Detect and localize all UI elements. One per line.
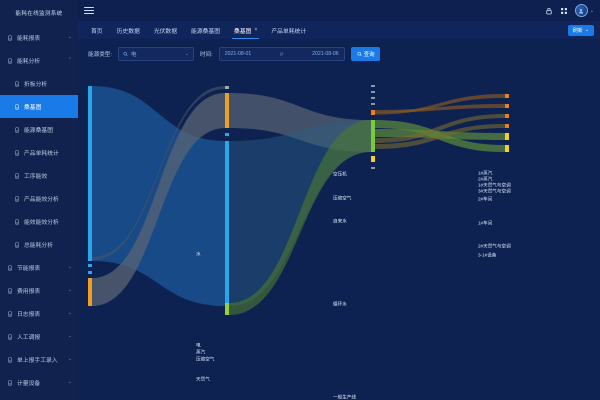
sankey-node-dev12[interactable] xyxy=(505,133,509,140)
sidebar-item-label: 工序能效 xyxy=(24,171,72,180)
sidebar: 能耗在线监测系统 能耗报表⌄能耗分析⌃折板分析桑基图能源桑基图产品单耗统计工序能… xyxy=(0,0,78,400)
sankey-node-gasair3[interactable] xyxy=(371,103,375,105)
chevron-icon: ⌄ xyxy=(68,35,72,40)
refresh-label: 刷新 xyxy=(573,27,583,34)
chevron-icon: ⌄ xyxy=(68,265,72,270)
filter-bar: 能源类型: 电 ⌄ 时间: 2021-08-01 2021-08-06 xyxy=(78,39,600,69)
sankey-node-gasair1[interactable] xyxy=(371,97,375,99)
sidebar-item-3[interactable]: 桑基图 xyxy=(0,95,78,118)
sidebar-nav: 能耗报表⌄能耗分析⌃折板分析桑基图能源桑基图产品单耗统计工序能效产品能效分析能效… xyxy=(0,26,78,394)
sidebar-item-label: 费用报表 xyxy=(17,286,64,295)
app-brand: 能耗在线监测系统 xyxy=(0,0,78,26)
chevron-down-icon: ⌄ xyxy=(185,51,189,57)
main-area: ⌄ 首页历史数据光伏数据能源桑基图桑基图×产品单耗统计 刷新 ⌄ 能源类型: 电… xyxy=(78,0,600,400)
chevron-icon: ⌄ xyxy=(68,288,72,293)
sankey-node-compair_mid[interactable] xyxy=(225,93,229,128)
tab-4[interactable]: 桑基图× xyxy=(227,21,264,39)
tab-label: 产品单耗统计 xyxy=(271,26,306,35)
tab-label: 能源桑基图 xyxy=(191,26,220,35)
sankey-node-dev11[interactable] xyxy=(505,145,509,152)
energy-type-value: 电 xyxy=(131,50,182,58)
tab-1[interactable]: 历史数据 xyxy=(110,21,147,39)
avatar-caret[interactable]: ⌄ xyxy=(590,8,594,14)
date-range-picker[interactable]: 2021-08-01 2021-08-06 xyxy=(219,47,345,61)
sankey-node-gasair2[interactable] xyxy=(371,156,375,162)
tab-close-icon[interactable]: × xyxy=(254,27,257,33)
sankey-node-compair_in[interactable] xyxy=(88,271,92,274)
energy-sankey-icon xyxy=(14,127,20,133)
sidebar-item-label: 能源桑基图 xyxy=(24,125,72,134)
energy-type-label: 能源类型: xyxy=(88,50,112,58)
gauge-icon xyxy=(14,219,20,225)
tab-label: 桑基图 xyxy=(234,26,251,35)
tab-label: 首页 xyxy=(91,26,103,35)
hamburger-icon[interactable] xyxy=(84,7,94,14)
date-end: 2021-08-06 xyxy=(312,51,339,57)
tab-5[interactable]: 产品单耗统计 xyxy=(264,21,313,39)
sidebar-item-7[interactable]: 产品能效分析 xyxy=(0,187,78,210)
sankey-node-dev13[interactable] xyxy=(505,114,509,118)
sankey-node-dev14[interactable] xyxy=(505,124,509,128)
sidebar-item-14[interactable]: 单上报手工录入⌄ xyxy=(0,348,78,371)
sidebar-item-label: 单上报手工录入 xyxy=(17,355,64,364)
query-button[interactable]: 查询 xyxy=(351,47,381,61)
tab-3[interactable]: 能源桑基图 xyxy=(184,21,227,39)
sankey-node-aircomp[interactable] xyxy=(225,86,229,89)
sidebar-item-label: 能耗分析 xyxy=(17,56,64,65)
analysis-icon xyxy=(7,58,13,64)
sankey-node-elec[interactable] xyxy=(88,257,92,260)
cost-icon xyxy=(7,288,13,294)
tab-label: 光伏数据 xyxy=(154,26,177,35)
sankey-node-circwater[interactable] xyxy=(225,141,229,306)
savings-icon xyxy=(7,265,13,271)
sidebar-item-1[interactable]: 能耗分析⌃ xyxy=(0,49,78,72)
avatar-icon xyxy=(575,4,588,17)
chevron-down-icon: ⌄ xyxy=(585,27,589,33)
chevron-icon: ⌄ xyxy=(68,357,72,362)
report-icon xyxy=(7,35,13,41)
product-icon xyxy=(14,150,20,156)
sankey-node-label-prodline: 一般生产线 xyxy=(333,396,356,400)
sankey-node-natgas[interactable] xyxy=(88,278,92,306)
grid-icon[interactable] xyxy=(560,7,568,15)
info-icon xyxy=(14,196,20,202)
chevron-icon: ⌄ xyxy=(68,311,72,316)
sidebar-item-label: 节能报表 xyxy=(17,263,64,272)
sidebar-item-label: 折板分析 xyxy=(24,79,72,88)
sankey-node-water[interactable] xyxy=(88,86,92,261)
search-icon xyxy=(357,52,362,57)
sidebar-item-label: 产品能效分析 xyxy=(24,194,72,203)
sidebar-item-8[interactable]: 能效能效分析 xyxy=(0,210,78,233)
sankey-node-dev21[interactable] xyxy=(505,104,509,108)
refresh-button[interactable]: 刷新 ⌄ xyxy=(568,25,594,36)
tab-label: 历史数据 xyxy=(117,26,140,35)
time-label: 时间: xyxy=(200,50,213,58)
sidebar-item-15[interactable]: 计量设备⌄ xyxy=(0,371,78,394)
device-icon xyxy=(7,380,13,386)
sidebar-item-label: 能效能效分析 xyxy=(24,217,72,226)
top-bar-actions: ⌄ xyxy=(545,4,594,17)
sidebar-item-2[interactable]: 折板分析 xyxy=(0,72,78,95)
manual-icon xyxy=(7,334,13,340)
chevron-icon: ⌄ xyxy=(68,334,72,339)
top-bar: ⌄ xyxy=(78,0,600,21)
sidebar-item-label: 计量设备 xyxy=(17,378,64,387)
sankey-node-prodline[interactable] xyxy=(225,303,229,315)
sidebar-item-label: 桑基图 xyxy=(24,102,72,111)
date-start: 2021-08-01 xyxy=(225,51,252,57)
sidebar-item-4[interactable]: 能源桑基图 xyxy=(0,118,78,141)
sankey-node-steam2[interactable] xyxy=(371,91,375,93)
query-label: 查询 xyxy=(364,50,375,58)
chevron-icon: ⌄ xyxy=(68,380,72,385)
sankey-node-steam1[interactable] xyxy=(371,85,375,87)
energy-type-select[interactable]: 电 ⌄ xyxy=(118,47,194,61)
tab-2[interactable]: 光伏数据 xyxy=(147,21,184,39)
sankey-node-steam_in[interactable] xyxy=(88,264,92,267)
sankey-node-shop1[interactable] xyxy=(371,120,375,152)
chevron-icon: ⌃ xyxy=(68,58,72,63)
sidebar-item-label: 能耗报表 xyxy=(17,33,64,42)
sidebar-item-0[interactable]: 能耗报表⌄ xyxy=(0,26,78,49)
process-icon xyxy=(14,173,20,179)
sidebar-item-label: 产品单耗统计 xyxy=(24,148,72,157)
tab-0[interactable]: 首页 xyxy=(84,21,110,39)
swap-icon xyxy=(279,51,285,58)
sidebar-item-10[interactable]: 节能报表⌄ xyxy=(0,256,78,279)
sidebar-item-5[interactable]: 产品单耗统计 xyxy=(0,141,78,164)
tab-strip: 首页历史数据光伏数据能源桑基图桑基图×产品单耗统计 刷新 ⌄ xyxy=(78,21,600,39)
sidebar-item-label: 人工调报 xyxy=(17,332,64,341)
sidebar-item-6[interactable]: 工序能效 xyxy=(0,164,78,187)
search-icon xyxy=(123,52,128,57)
sankey-chart[interactable]: 水电蒸汽压缩空气天然气空压机压缩空气自来水循环水一般生产线1#蒸汽2#蒸汽1#天… xyxy=(78,69,600,400)
sankey-svg xyxy=(78,69,600,384)
sankey-icon xyxy=(14,104,20,110)
avatar[interactable]: ⌄ xyxy=(575,4,594,17)
sankey-node-shop2[interactable] xyxy=(371,110,375,115)
sidebar-item-13[interactable]: 人工调报⌄ xyxy=(0,325,78,348)
sidebar-item-label: 日志报表 xyxy=(17,309,64,318)
app-root: 能耗在线监测系统 能耗报表⌄能耗分析⌃折板分析桑基图能源桑基图产品单耗统计工序能… xyxy=(0,0,600,400)
doc-icon xyxy=(14,242,20,248)
circle-icon xyxy=(14,81,20,87)
entry-icon xyxy=(7,357,13,363)
sidebar-item-11[interactable]: 费用报表⌄ xyxy=(0,279,78,302)
sankey-node-dev31[interactable] xyxy=(371,167,375,169)
log-icon xyxy=(7,311,13,317)
sankey-node-tapwater[interactable] xyxy=(225,133,229,136)
lock-icon[interactable] xyxy=(545,7,553,15)
sidebar-item-9[interactable]: 总能耗分析 xyxy=(0,233,78,256)
sankey-node-dev22[interactable] xyxy=(505,94,509,98)
sidebar-item-12[interactable]: 日志报表⌄ xyxy=(0,302,78,325)
sidebar-item-label: 总能耗分析 xyxy=(24,240,72,249)
